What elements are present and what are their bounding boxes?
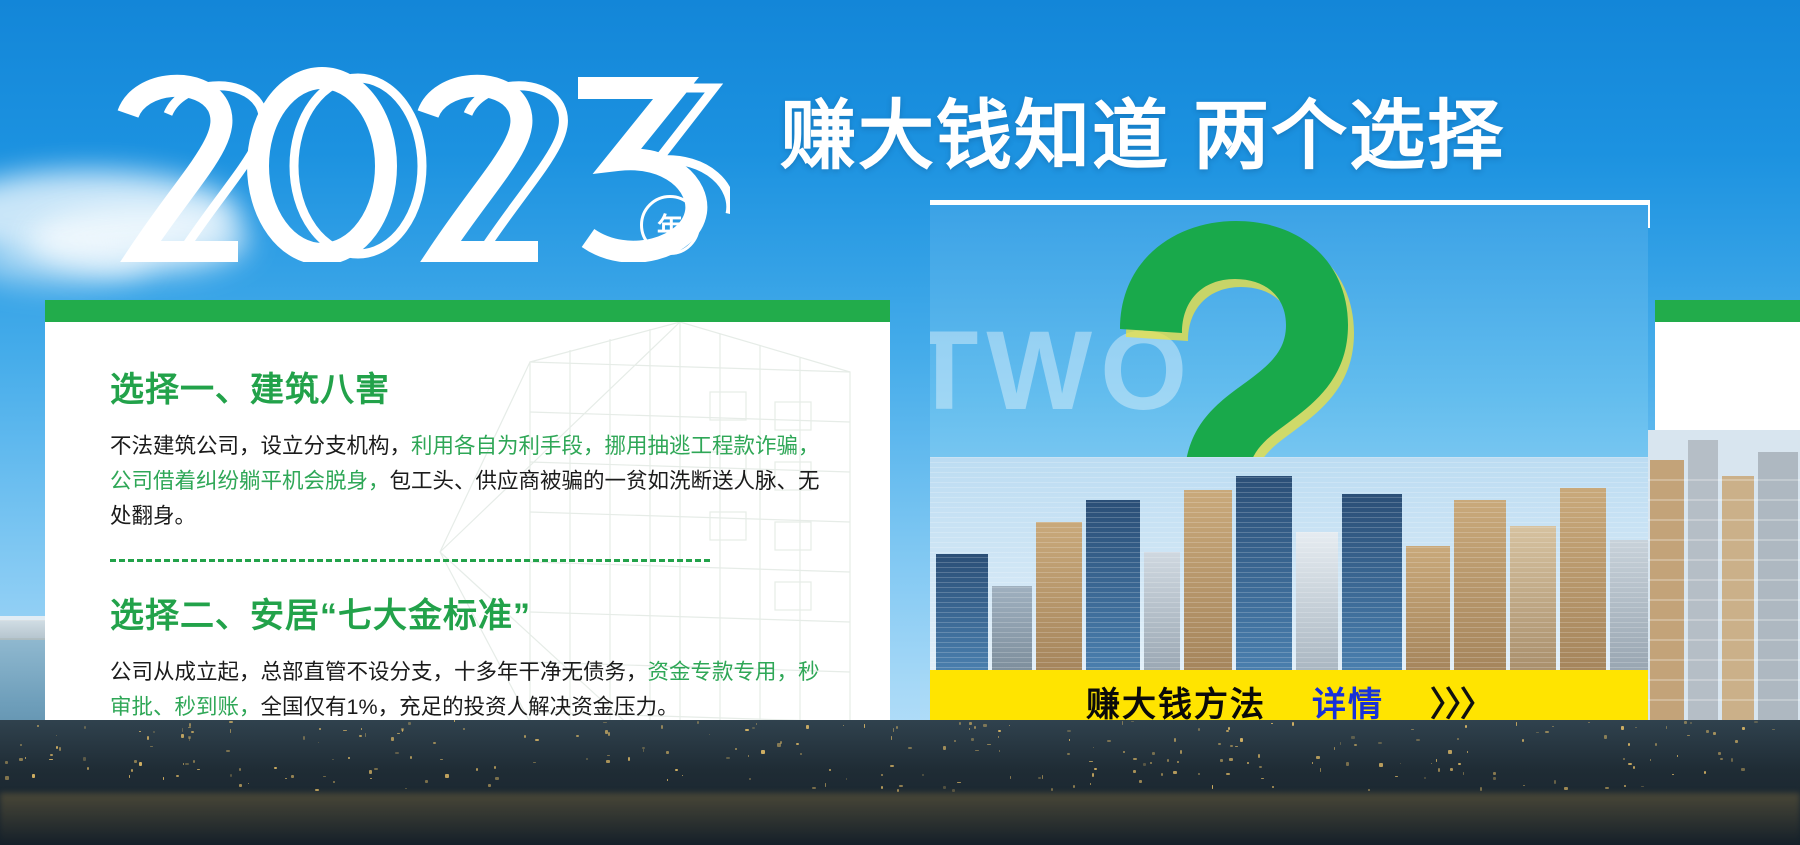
year-suffix-badge: 年 <box>640 195 700 255</box>
water-reflection <box>0 793 1800 845</box>
section-divider <box>110 559 710 562</box>
section-title-two: 选择二、安居“七大金标准” <box>110 588 830 637</box>
chevron-right-icon: 〉〉〉 <box>1430 677 1492 726</box>
facade-texture <box>930 457 1648 672</box>
page-title: 赚大钱知道 两个选择 <box>780 74 1505 184</box>
card-green-header-bar <box>45 300 890 322</box>
content-card: 选择一、建筑八害 不法建筑公司，设立分支机构，利用各自为利手段，挪用抽逃工程款诈… <box>45 300 890 790</box>
body-part-black: 公司从成立起，总部直管不设分支，十多年干净无债务， <box>110 660 648 684</box>
bottom-night-photo-strip <box>0 720 1800 845</box>
cta-link-label: 详情 <box>1312 677 1384 726</box>
cta-label: 赚大钱方法 <box>1086 677 1266 726</box>
right-visual-panel: TWO CHOICES <box>930 205 1648 750</box>
right-green-bar <box>1655 300 1800 322</box>
section-title-one: 选择一、建筑八害 <box>110 362 830 411</box>
right-buildings-photo <box>1648 430 1800 722</box>
city-skyline-photo <box>930 457 1648 672</box>
section-body-two: 公司从成立起，总部直管不设分支，十多年干净无债务，资金专款专用，秒审批、秒到账，… <box>110 655 830 725</box>
body-part-black: 全国仅有1%，充足的投资人解决资金压力。 <box>261 695 679 719</box>
section-body-one: 不法建筑公司，设立分支机构，利用各自为利手段，挪用抽逃工程款诈骗，公司借着纠纷躺… <box>110 429 830 533</box>
year-2023-graphic <box>110 62 730 262</box>
poster-canvas: 年 赚大钱知道 两个选择 TWO CHOICES <box>0 0 1800 845</box>
card-content: 选择一、建筑八害 不法建筑公司，设立分支机构，利用各自为利手段，挪用抽逃工程款诈… <box>45 322 890 725</box>
year-suffix-label: 年 <box>640 195 700 255</box>
body-part-black: 不法建筑公司，设立分支机构， <box>110 434 411 458</box>
